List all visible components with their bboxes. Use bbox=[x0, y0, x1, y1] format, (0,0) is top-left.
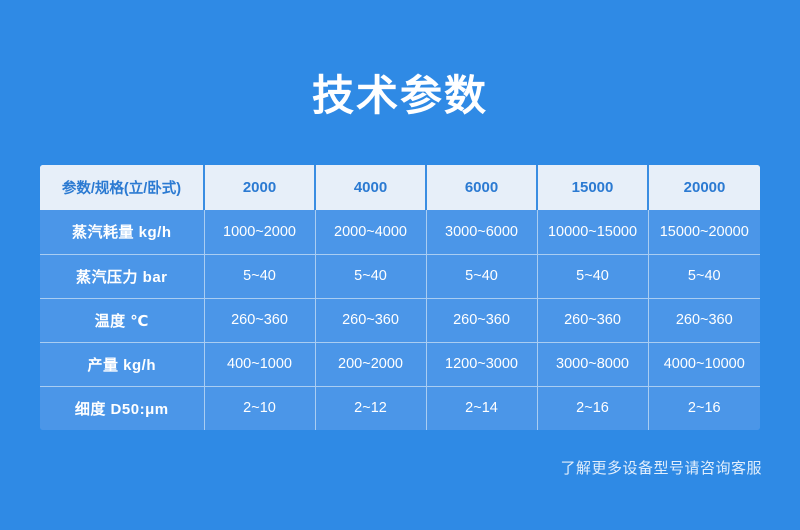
cell-fineness-15000: 2~16 bbox=[537, 386, 648, 430]
table-row: 蒸汽耗量 kg/h 1000~2000 2000~4000 3000~6000 … bbox=[40, 210, 760, 254]
cell-temperature-20000: 260~360 bbox=[648, 298, 760, 342]
cell-temperature-6000: 260~360 bbox=[426, 298, 537, 342]
cell-steam-pressure-20000: 5~40 bbox=[648, 254, 760, 298]
table-body: 蒸汽耗量 kg/h 1000~2000 2000~4000 3000~6000 … bbox=[40, 210, 760, 430]
cell-steam-consumption-6000: 3000~6000 bbox=[426, 210, 537, 254]
row-label-output: 产量 kg/h bbox=[40, 342, 204, 386]
cell-temperature-4000: 260~360 bbox=[315, 298, 426, 342]
cell-steam-consumption-2000: 1000~2000 bbox=[204, 210, 315, 254]
cell-output-20000: 4000~10000 bbox=[648, 342, 760, 386]
cell-output-15000: 3000~8000 bbox=[537, 342, 648, 386]
row-label-fineness: 细度 D50:μm bbox=[40, 386, 204, 430]
technical-parameters-table: 参数/规格(立/卧式) 2000 4000 6000 15000 20000 蒸… bbox=[40, 165, 760, 430]
cell-output-2000: 400~1000 bbox=[204, 342, 315, 386]
contact-service-note: 了解更多设备型号请咨询客服 bbox=[560, 457, 762, 478]
table-header: 参数/规格(立/卧式) 2000 4000 6000 15000 20000 bbox=[40, 165, 760, 210]
cell-steam-pressure-4000: 5~40 bbox=[315, 254, 426, 298]
cell-steam-pressure-2000: 5~40 bbox=[204, 254, 315, 298]
column-header-parameter: 参数/规格(立/卧式) bbox=[40, 165, 204, 210]
column-header-6000: 6000 bbox=[426, 165, 537, 210]
cell-steam-consumption-20000: 15000~20000 bbox=[648, 210, 760, 254]
column-header-15000: 15000 bbox=[537, 165, 648, 210]
cell-steam-pressure-15000: 5~40 bbox=[537, 254, 648, 298]
page-title: 技术参数 bbox=[0, 68, 800, 124]
table-row: 温度 ℃ 260~360 260~360 260~360 260~360 260… bbox=[40, 298, 760, 342]
cell-steam-pressure-6000: 5~40 bbox=[426, 254, 537, 298]
column-header-4000: 4000 bbox=[315, 165, 426, 210]
row-label-steam-pressure: 蒸汽压力 bar bbox=[40, 254, 204, 298]
table-row: 蒸汽压力 bar 5~40 5~40 5~40 5~40 5~40 bbox=[40, 254, 760, 298]
cell-steam-consumption-15000: 10000~15000 bbox=[537, 210, 648, 254]
cell-output-4000: 200~2000 bbox=[315, 342, 426, 386]
cell-steam-consumption-4000: 2000~4000 bbox=[315, 210, 426, 254]
cell-fineness-20000: 2~16 bbox=[648, 386, 760, 430]
cell-fineness-6000: 2~14 bbox=[426, 386, 537, 430]
row-label-steam-consumption: 蒸汽耗量 kg/h bbox=[40, 210, 204, 254]
cell-temperature-2000: 260~360 bbox=[204, 298, 315, 342]
table-header-row: 参数/规格(立/卧式) 2000 4000 6000 15000 20000 bbox=[40, 165, 760, 210]
table-row: 细度 D50:μm 2~10 2~12 2~14 2~16 2~16 bbox=[40, 386, 760, 430]
cell-fineness-4000: 2~12 bbox=[315, 386, 426, 430]
spec-sheet-page: 技术参数 参数/规格(立/卧式) 2000 4000 6000 15000 20… bbox=[0, 0, 800, 530]
table-row: 产量 kg/h 400~1000 200~2000 1200~3000 3000… bbox=[40, 342, 760, 386]
column-header-20000: 20000 bbox=[648, 165, 760, 210]
cell-output-6000: 1200~3000 bbox=[426, 342, 537, 386]
column-header-2000: 2000 bbox=[204, 165, 315, 210]
cell-temperature-15000: 260~360 bbox=[537, 298, 648, 342]
row-label-temperature: 温度 ℃ bbox=[40, 298, 204, 342]
cell-fineness-2000: 2~10 bbox=[204, 386, 315, 430]
